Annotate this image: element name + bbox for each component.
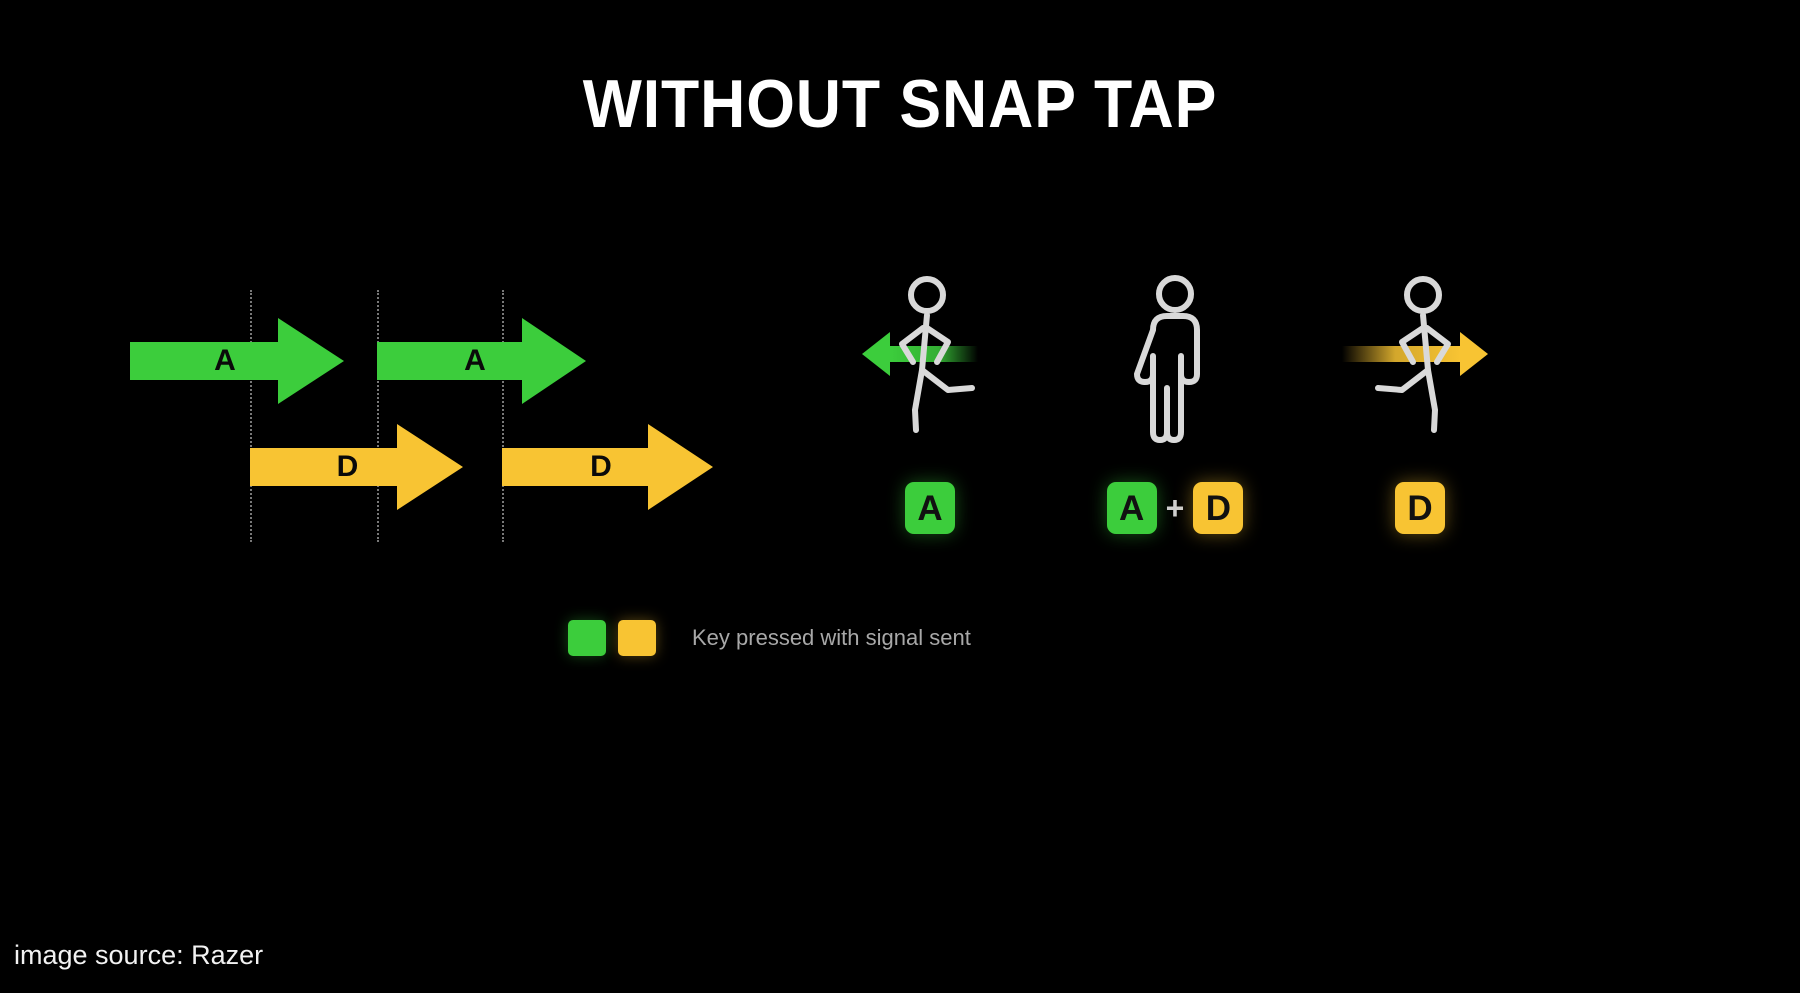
figure-1-keys: A (810, 482, 1050, 534)
runner-left-icon (830, 270, 1030, 440)
legend-swatch-green (568, 620, 606, 656)
standing-person-icon (1075, 270, 1275, 440)
timeline-arrow-a-2: A (377, 318, 586, 404)
key-cap-d[interactable]: D (1395, 482, 1445, 534)
key-cap-a[interactable]: A (905, 482, 955, 534)
timeline-arrow-d-2: D (502, 424, 713, 510)
figure-group-1: A (810, 270, 1050, 600)
figure-2-keys: A + D (1055, 482, 1295, 534)
legend-swatch-yellow (618, 620, 656, 656)
legend-label: Key pressed with signal sent (692, 625, 971, 651)
key-cap-a[interactable]: A (1107, 482, 1157, 534)
figure-group-2: A + D (1055, 270, 1295, 600)
key-combo-plus-icon: + (1163, 492, 1188, 524)
timeline-arrow-d-1: D (250, 424, 463, 510)
timeline-arrow-a-1: A (130, 318, 344, 404)
motion-arrow-right (1342, 332, 1488, 376)
figures-panel: A A + D (810, 270, 1800, 600)
legend: Key pressed with signal sent (568, 620, 971, 656)
timeline-panel: A A D D (0, 0, 820, 993)
source-caption: image source: Razer (14, 940, 263, 971)
key-cap-d[interactable]: D (1193, 482, 1243, 534)
figure-3-keys: D (1300, 482, 1540, 534)
figure-group-3: D (1300, 270, 1540, 600)
runner-right-icon (1320, 270, 1520, 440)
